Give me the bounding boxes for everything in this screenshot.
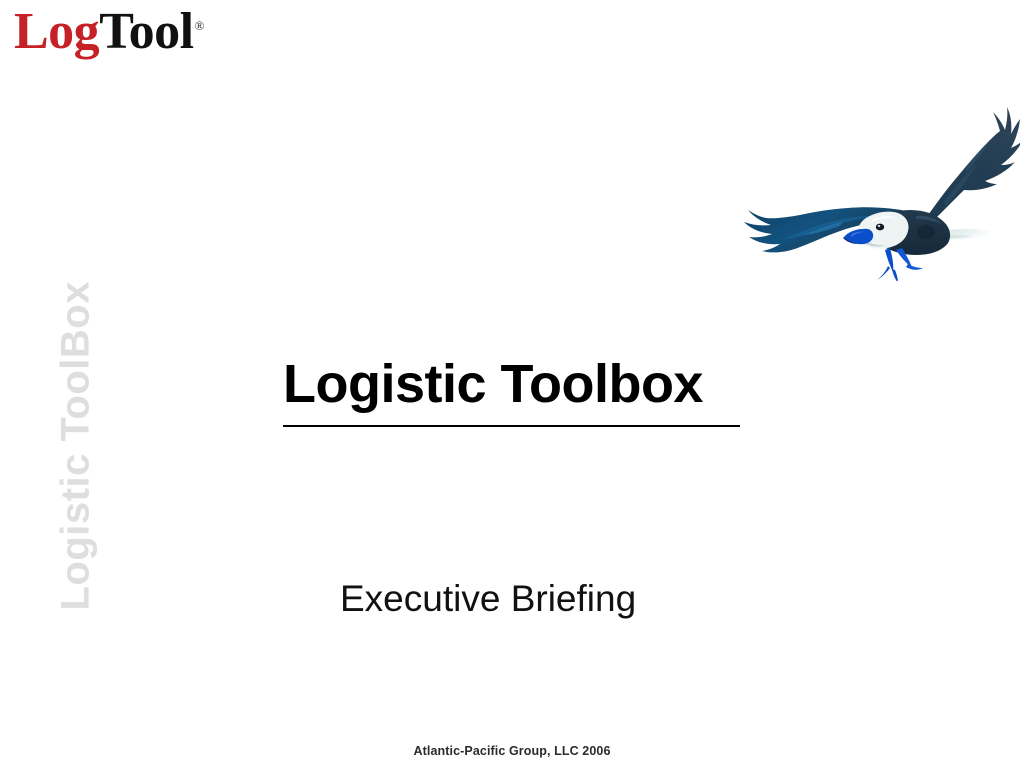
title-underline-rule bbox=[283, 425, 740, 427]
presentation-slide: LogTool® Logistic ToolBox bbox=[0, 0, 1024, 768]
brand-logo: LogTool® bbox=[14, 6, 204, 58]
side-watermark-text: Logistic ToolBox bbox=[54, 311, 99, 611]
page-title: Logistic Toolbox bbox=[283, 356, 743, 413]
brand-logo-log: Log bbox=[14, 3, 99, 60]
eagle-beak bbox=[843, 229, 873, 244]
registered-trademark-icon: ® bbox=[195, 18, 204, 33]
page-subtitle: Executive Briefing bbox=[340, 578, 636, 620]
title-block: Logistic Toolbox bbox=[283, 356, 743, 427]
eagle-right-wing bbox=[926, 107, 1020, 227]
brand-logo-tool: Tool bbox=[99, 3, 193, 60]
slide-footer-copyright: Atlantic-Pacific Group, LLC 2006 bbox=[0, 744, 1024, 758]
eagle-illustration bbox=[730, 96, 1020, 281]
